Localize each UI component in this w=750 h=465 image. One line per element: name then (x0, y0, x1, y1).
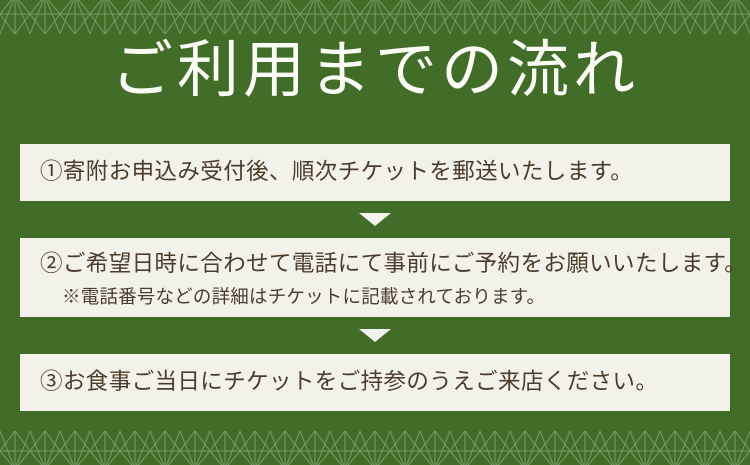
step-box-3: ③お食事ご当日にチケットをご持参のうえご来店ください。 (20, 354, 730, 411)
connector-1 (20, 201, 730, 238)
step-2-note: ※電話番号などの詳細はチケットに記載されております。 (40, 283, 710, 312)
step-list: ①寄附お申込み受付後、順次チケットを郵送いたします。 ②ご希望日時に合わせて電話… (20, 144, 730, 411)
step-1-text: ①寄附お申込み受付後、順次チケットを郵送いたします。 (40, 151, 710, 193)
banner-title: ご利用までの流れ (0, 36, 750, 104)
connector-2 (20, 317, 730, 354)
arrow-down-triangle-icon (359, 329, 391, 342)
flow-banner: ご利用までの流れ ①寄附お申込み受付後、順次チケットを郵送いたします。 ②ご希望… (0, 0, 750, 465)
asanoha-pattern-top (0, 0, 750, 34)
asanoha-pattern-bottom (0, 431, 750, 465)
step-box-2: ②ご希望日時に合わせて電話にて事前にご予約をお願いいたします。 ※電話番号などの… (20, 238, 730, 317)
step-box-1: ①寄附お申込み受付後、順次チケットを郵送いたします。 (20, 144, 730, 201)
step-2-text: ②ご希望日時に合わせて電話にて事前にご予約をお願いいたします。 (40, 245, 710, 283)
arrow-down-triangle-icon (359, 213, 391, 226)
step-3-text: ③お食事ご当日にチケットをご持参のうえご来店ください。 (40, 361, 710, 403)
